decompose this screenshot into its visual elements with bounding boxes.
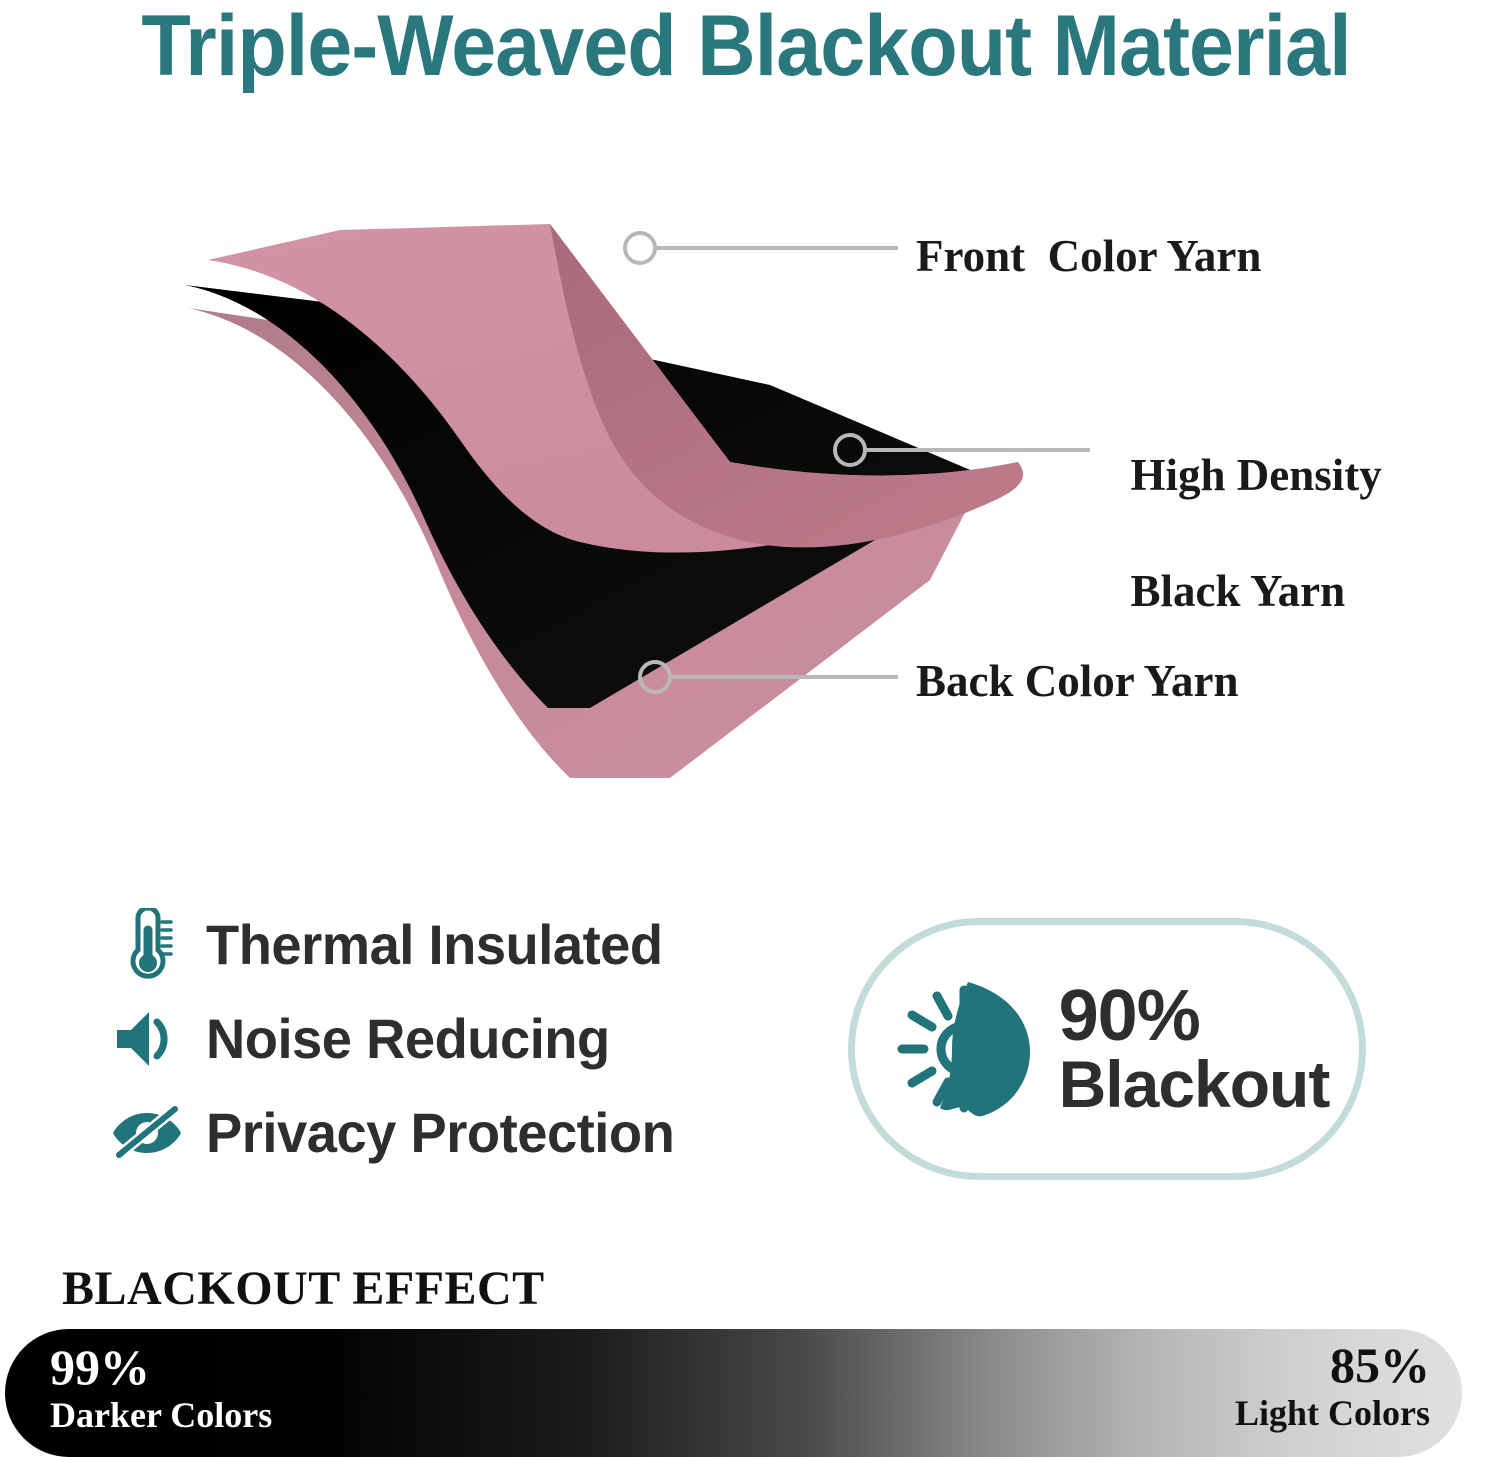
feature-item-privacy-protection: Privacy Protection <box>110 1086 810 1180</box>
label-back-color-yarn: Back Color Yarn <box>916 652 1239 710</box>
effect-darker-percent: 99% <box>50 1342 272 1392</box>
feature-list: Thermal Insulated Noise Reducing Privacy… <box>110 898 810 1180</box>
feature-item-noise-reducing: Noise Reducing <box>110 992 810 1086</box>
thermometer-icon <box>110 908 184 982</box>
blackout-percentage-badge: 90% Blackout <box>848 918 1366 1180</box>
feature-label-privacy-protection: Privacy Protection <box>206 1103 674 1163</box>
label-high-density-line1: High Density <box>1131 450 1382 500</box>
feature-item-thermal-insulated: Thermal Insulated <box>110 898 810 992</box>
feature-label-thermal-insulated: Thermal Insulated <box>206 915 663 975</box>
effect-light-label: Light Colors <box>1235 1395 1430 1431</box>
callout-front <box>625 233 898 263</box>
label-front-color-yarn: Front Color Yarn <box>916 227 1261 285</box>
effect-light-percent: 85% <box>1235 1340 1430 1390</box>
blackout-effect-heading: BLACKOUT EFFECT <box>62 1262 545 1316</box>
page-title: Triple-Weaved Blackout Material <box>45 0 1447 96</box>
effect-darker-colors-group: 99% Darker Colors <box>50 1342 272 1433</box>
label-high-density-line2: Black Yarn <box>1131 566 1346 616</box>
label-high-density-black-yarn: High Density Black Yarn <box>1108 388 1382 620</box>
badge-text-group: 90% Blackout <box>1059 981 1330 1116</box>
badge-blackout-label: Blackout <box>1059 1052 1330 1117</box>
sun-blocked-icon <box>885 969 1045 1129</box>
feature-label-noise-reducing: Noise Reducing <box>206 1009 610 1069</box>
eye-slash-icon <box>110 1096 184 1170</box>
badge-percent-value: 90% <box>1059 981 1330 1052</box>
speaker-icon <box>110 1002 184 1076</box>
effect-darker-label: Darker Colors <box>50 1397 272 1433</box>
effect-light-colors-group: 85% Light Colors <box>1235 1340 1430 1431</box>
